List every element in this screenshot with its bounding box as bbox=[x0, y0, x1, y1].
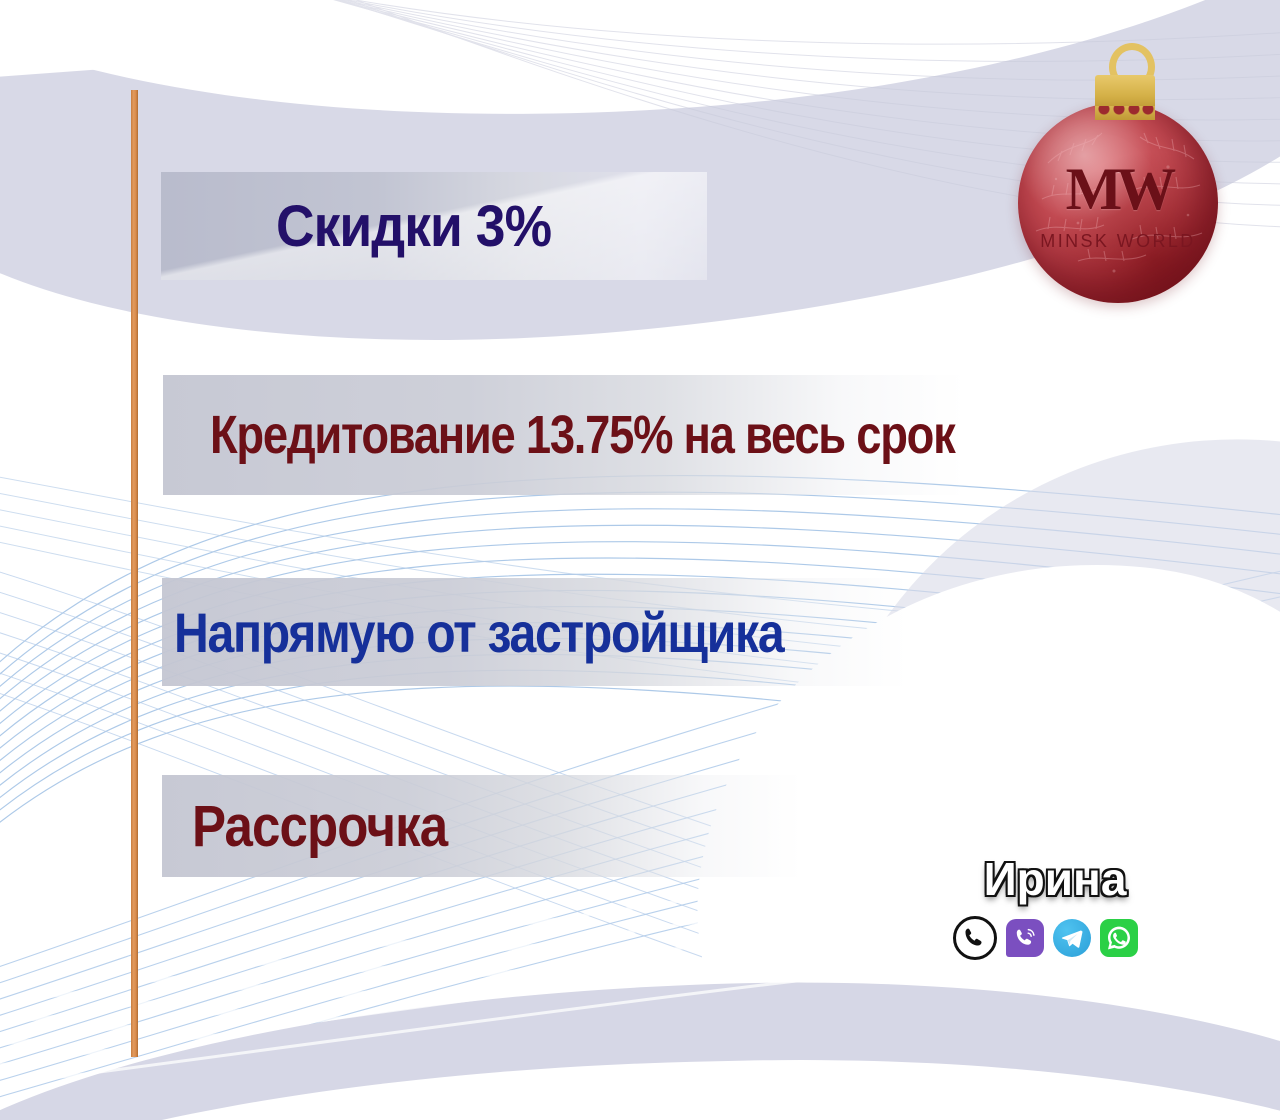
orange-vertical-rule bbox=[131, 90, 138, 1057]
banner-discount: Скидки 3% bbox=[161, 172, 707, 280]
bottom-swoosh-mask bbox=[0, 1044, 1280, 1120]
telegram-icon[interactable] bbox=[1053, 919, 1091, 957]
telegram-glyph bbox=[1053, 919, 1091, 957]
ornament-ball: MW MINSK WORLD bbox=[1018, 103, 1218, 303]
banner-installment: Рассрочка bbox=[162, 775, 802, 877]
christmas-ball-logo: MW MINSK WORLD bbox=[1000, 25, 1218, 315]
banner-discount-text: Скидки 3% bbox=[276, 193, 551, 260]
banner-credit: Кредитование 13.75% на весь срок bbox=[163, 375, 965, 495]
viber-icon[interactable] bbox=[1006, 919, 1044, 957]
phone-glyph bbox=[956, 919, 994, 957]
contact-icon-row bbox=[953, 916, 1138, 960]
ornament-brand-name: MINSK WORLD bbox=[1018, 231, 1218, 252]
whatsapp-icon[interactable] bbox=[1100, 919, 1138, 957]
promo-slide: Скидки 3% Кредитование 13.75% на весь ср… bbox=[0, 0, 1280, 1120]
whatsapp-glyph bbox=[1100, 919, 1138, 957]
viber-glyph bbox=[1006, 919, 1044, 957]
phone-icon[interactable] bbox=[953, 916, 997, 960]
contact-block: Ирина bbox=[950, 852, 1160, 964]
banner-direct-from-developer-text: Напрямую от застройщика bbox=[174, 600, 783, 665]
agent-name: Ирина bbox=[950, 852, 1160, 906]
banner-credit-text: Кредитование 13.75% на весь срок bbox=[210, 404, 955, 466]
ornament-cap-icon bbox=[1095, 75, 1155, 113]
banner-installment-text: Рассрочка bbox=[192, 793, 447, 860]
ornament-monogram: MW bbox=[1018, 155, 1218, 224]
banner-direct-from-developer: Напрямую от застройщика bbox=[162, 578, 908, 686]
bottom-lavender-swoosh bbox=[0, 962, 1280, 1120]
